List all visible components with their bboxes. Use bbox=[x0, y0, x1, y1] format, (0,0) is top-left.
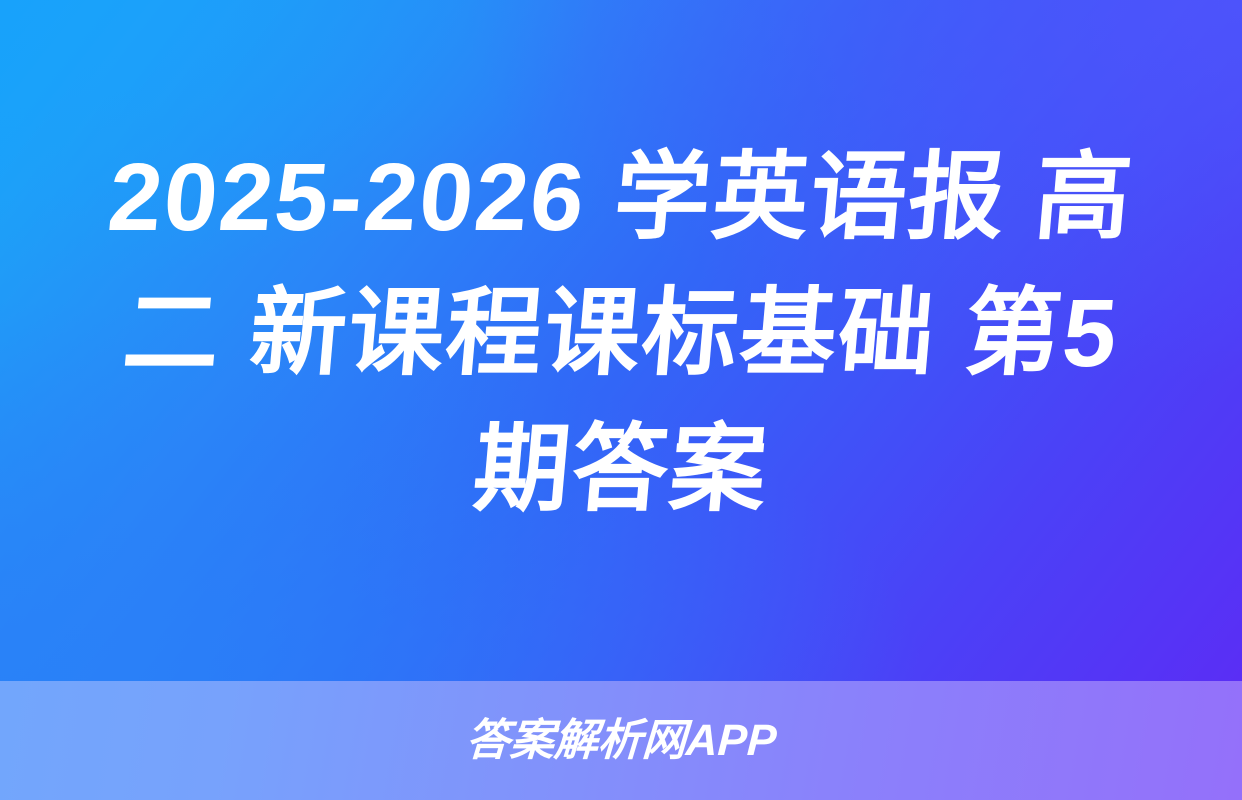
brand-name-label: 答案解析网APP bbox=[464, 715, 777, 767]
page-title: 2025-2026 学英语报 高 二 新课程课标基础 第5 期答案 bbox=[56, 130, 1186, 552]
title-line-2: 二 新课程课标基础 第5 bbox=[50, 266, 1192, 402]
hero-gradient-panel: 2025-2026 学英语报 高 二 新课程课标基础 第5 期答案 bbox=[0, 0, 1242, 681]
title-line-3: 期答案 bbox=[50, 402, 1192, 538]
brand-footer-band: 答案解析网APP bbox=[0, 681, 1242, 800]
title-line-1: 2025-2026 学英语报 高 bbox=[50, 130, 1192, 266]
cover-card-screen: 2025-2026 学英语报 高 二 新课程课标基础 第5 期答案 答案解析网A… bbox=[0, 0, 1242, 800]
